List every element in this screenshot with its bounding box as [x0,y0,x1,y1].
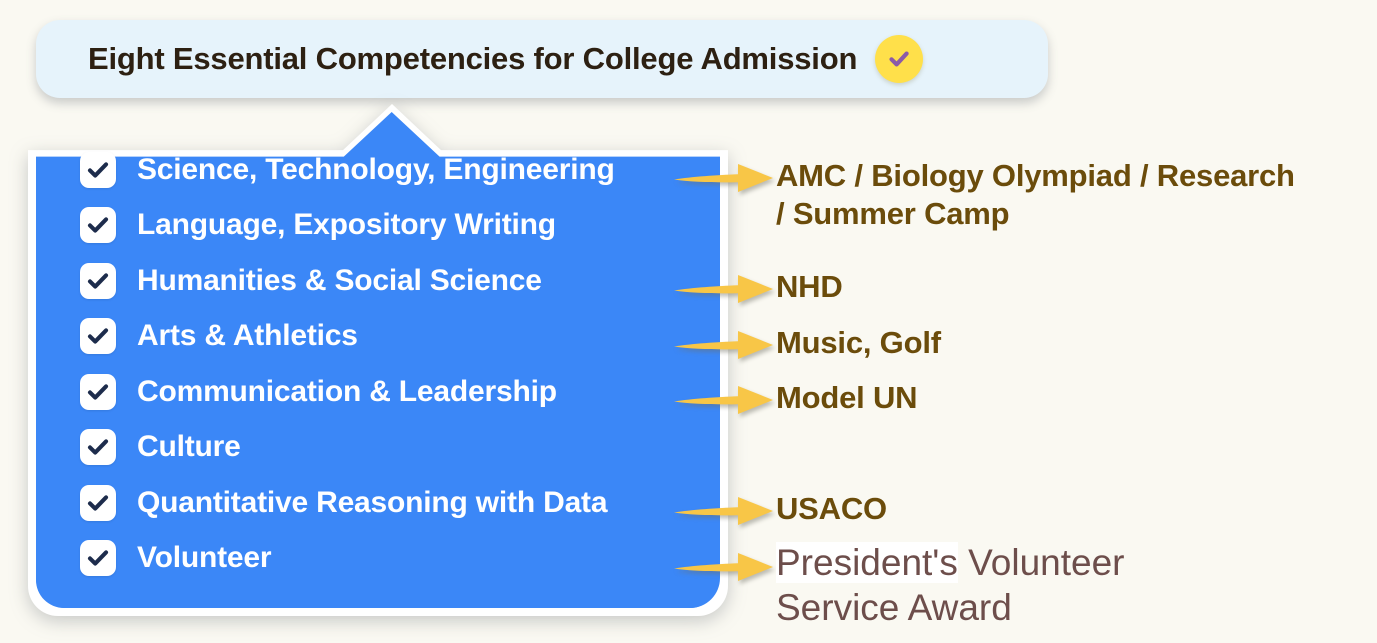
annotation-line-1: Music, Golf [776,324,941,362]
annotation-line-2: Service Award [776,585,1125,630]
page-title: Eight Essential Competencies for College… [88,41,857,77]
checkbox-checked-icon[interactable] [80,318,116,354]
pointer-arrow-icon [672,491,776,531]
competency-row[interactable]: Quantitative Reasoning with Data [80,475,710,531]
checkbox-checked-icon[interactable] [80,374,116,410]
pointer-arrow-icon [672,325,776,365]
checkbox-checked-icon[interactable] [80,207,116,243]
competency-row[interactable]: Arts & Athletics [80,309,710,365]
competency-row[interactable]: Language, Expository Writing [80,198,710,254]
annotation-line-1-rest: Volunteer [958,542,1125,583]
competency-row[interactable]: Culture [80,420,710,476]
competency-row[interactable]: Communication & Leadership [80,364,710,420]
competency-panel: Science, Technology, EngineeringLanguage… [28,104,728,616]
annotation-text: NHD [776,268,843,306]
checkbox-checked-icon[interactable] [80,540,116,576]
competency-label: Arts & Athletics [137,319,358,353]
annotation-text: President's VolunteerService Award [776,540,1125,630]
competency-list: Science, Technology, EngineeringLanguage… [80,142,710,586]
infographic-canvas: Eight Essential Competencies for College… [0,0,1377,643]
checkbox-checked-icon[interactable] [80,429,116,465]
pointer-arrow-icon [672,380,776,420]
annotation-text: USACO [776,490,887,528]
annotation-text: Model UN [776,379,917,417]
pointer-arrow-icon [672,158,776,198]
competency-label: Science, Technology, Engineering [137,153,615,187]
competency-row[interactable]: Volunteer [80,531,710,587]
annotation-text: AMC / Biology Olympiad / Research/ Summe… [776,157,1295,233]
competency-label: Volunteer [137,541,271,575]
check-circle-icon [875,35,923,83]
checkbox-checked-icon[interactable] [80,263,116,299]
pointer-arrow-icon [672,269,776,309]
pointer-arrow-icon [672,547,776,587]
competency-row[interactable]: Humanities & Social Science [80,253,710,309]
annotation-line-1: USACO [776,490,887,528]
annotation-line-1: President's Volunteer [776,540,1125,585]
competency-row[interactable]: Science, Technology, Engineering [80,142,710,198]
annotation-line-1: Model UN [776,379,917,417]
competency-label: Communication & Leadership [137,375,557,409]
annotation-line-1: NHD [776,268,843,306]
annotation-text: Music, Golf [776,324,941,362]
checkbox-checked-icon[interactable] [80,485,116,521]
competency-label: Quantitative Reasoning with Data [137,486,607,520]
annotation-line-1: AMC / Biology Olympiad / Research [776,157,1295,195]
competency-label: Culture [137,430,241,464]
checkbox-checked-icon[interactable] [80,152,116,188]
title-banner: Eight Essential Competencies for College… [36,20,1048,98]
competency-label: Humanities & Social Science [137,264,542,298]
competency-label: Language, Expository Writing [137,208,556,242]
annotation-highlight: President's [776,542,958,583]
annotation-line-2: / Summer Camp [776,195,1295,233]
